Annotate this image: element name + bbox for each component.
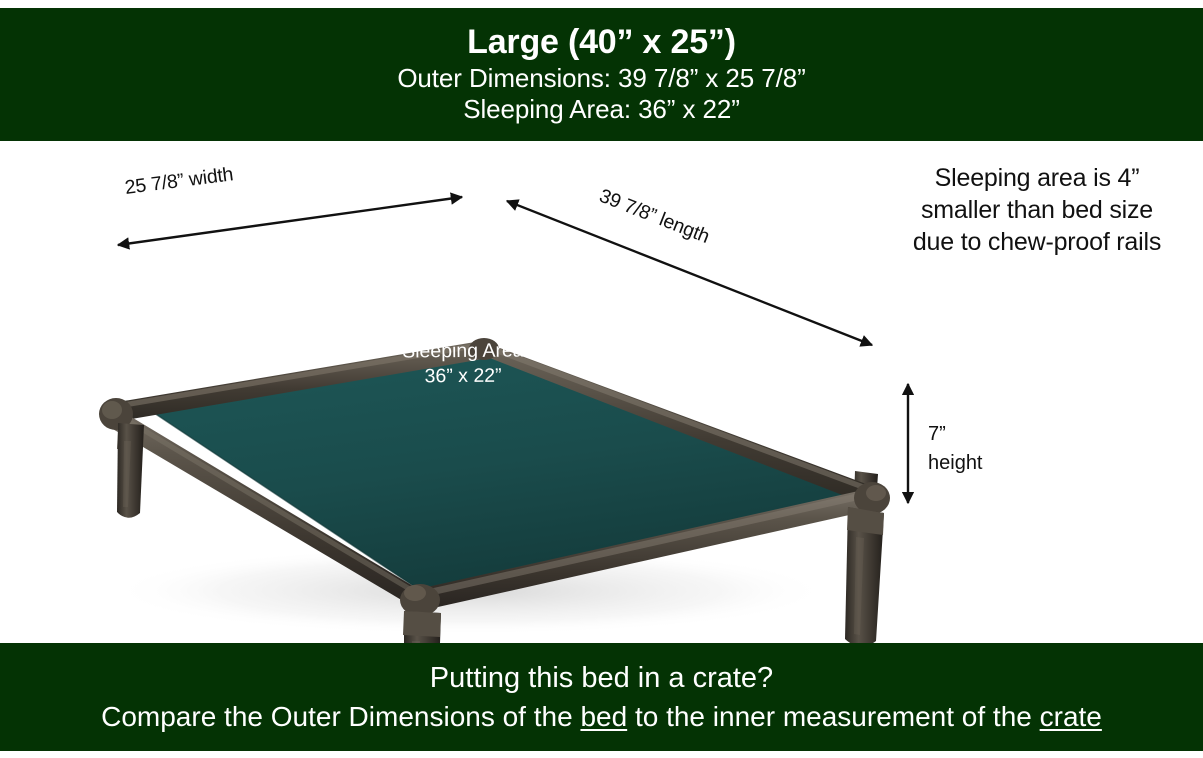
side-note-line-3: due to chew-proof rails [876, 226, 1198, 258]
crate-compare-bed-word: bed [580, 701, 627, 732]
sleeping-area-text: Sleeping Area: 36” x 22” [463, 94, 740, 125]
bed-leg-front-center [403, 611, 441, 643]
outer-dimensions-text: Outer Dimensions: 39 7/8” x 25 7/8” [397, 63, 805, 94]
bed-diagram: 25 7/8” width 22” sleeping width 39 7/8”… [0, 141, 1203, 643]
label-height-word: height [928, 449, 983, 478]
label-sleeping-area-line2: 36” x 22” [383, 364, 543, 391]
bottom-banner: Putting this bed in a crate? Compare the… [0, 643, 1203, 751]
crate-question: Putting this bed in a crate? [430, 661, 773, 696]
side-note: Sleeping area is 4” smaller than bed siz… [876, 162, 1198, 258]
bed-leg-left-front [117, 423, 144, 518]
page-title: Large (40” x 25”) [467, 24, 736, 61]
label-height-value: 7” [928, 420, 983, 449]
crate-compare-middle: to the inner measurement of the [627, 701, 1039, 732]
arrow-outer-width [118, 197, 462, 245]
crate-compare-text: Compare the Outer Dimensions of the bed … [101, 700, 1102, 734]
label-sleeping-area: Sleeping Area 36” x 22” [383, 338, 543, 390]
crate-compare-prefix: Compare the Outer Dimensions of the [101, 701, 580, 732]
label-sleeping-area-line1: Sleeping Area [383, 338, 543, 365]
top-banner: Large (40” x 25”) Outer Dimensions: 39 7… [0, 8, 1203, 141]
side-note-line-2: smaller than bed size [876, 194, 1198, 226]
bed-leg-front-right [845, 507, 884, 643]
side-note-line-1: Sleeping area is 4” [876, 162, 1198, 194]
crate-compare-crate-word: crate [1040, 701, 1102, 732]
label-height: 7” height [928, 420, 983, 478]
